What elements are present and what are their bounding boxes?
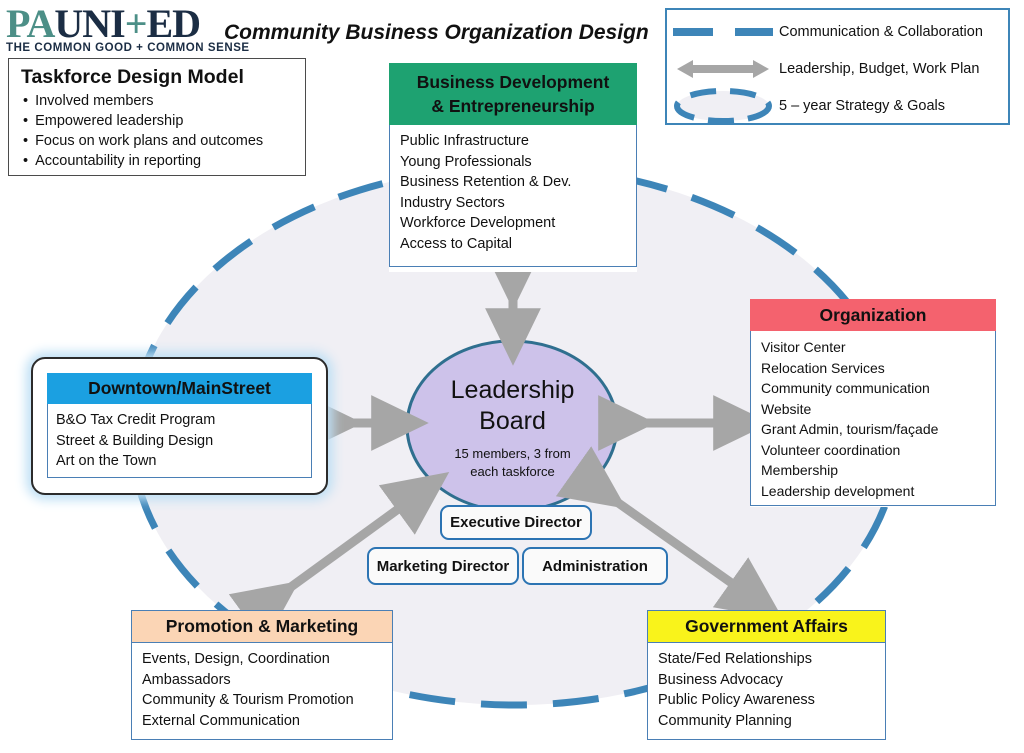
legend-item-strategy: 5 – year Strategy & Goals	[667, 86, 1008, 125]
card-business-development: Business Development & Entrepreneurship …	[389, 63, 637, 272]
box-administration: Administration	[522, 547, 668, 585]
list-item: Business Retention & Dev.	[400, 172, 636, 193]
list-item: Visitor Center	[761, 337, 995, 358]
logo-plus-icon: +	[125, 1, 147, 46]
taskforce-design-model-list: Involved members Empowered leadership Fo…	[19, 91, 305, 171]
list-item: Community communication	[761, 378, 995, 399]
card-government-affairs: Government Affairs State/Fed Relationshi…	[647, 610, 886, 743]
list-item: Focus on work plans and outcomes	[23, 131, 305, 151]
legend-label-strategy: 5 – year Strategy & Goals	[779, 98, 945, 114]
dashed-ellipse-swatch	[667, 87, 779, 125]
legend-item-communication: Communication & Collaboration	[667, 12, 1008, 51]
list-item: Young Professionals	[400, 152, 636, 173]
page-title: Community Business Organization Design	[224, 21, 649, 45]
list-item: External Communication	[142, 711, 392, 732]
list-item: Leadership development	[761, 481, 995, 502]
legend: Communication & Collaboration Leadership…	[665, 8, 1010, 125]
list-item: Ambassadors	[142, 670, 392, 691]
pa-united-logo: PAUNI+ED THE COMMON GOOD + COMMON SENSE	[6, 4, 250, 54]
diagram-canvas: PAUNI+ED THE COMMON GOOD + COMMON SENSE …	[0, 0, 1024, 753]
card-body-promotion-marketing: Events, Design, Coordination Ambassadors…	[131, 643, 393, 740]
dashed-line-swatch	[667, 25, 779, 39]
list-item: Empowered leadership	[23, 111, 305, 131]
card-header-downtown-mainstreet: Downtown/MainStreet	[47, 373, 312, 404]
logo-pa-text: PA	[6, 1, 54, 46]
logo-tagline: THE COMMON GOOD + COMMON SENSE	[6, 42, 250, 54]
card-body-downtown-mainstreet: B&O Tax Credit Program Street & Building…	[47, 404, 312, 478]
box-marketing-director: Marketing Director	[367, 547, 519, 585]
logo-ed-text: ED	[147, 1, 201, 46]
list-item: Workforce Development	[400, 213, 636, 234]
list-item: Industry Sectors	[400, 193, 636, 214]
list-item: Access to Capital	[400, 234, 636, 255]
list-item: Street & Building Design	[56, 431, 311, 452]
card-header-organization: Organization	[750, 299, 996, 331]
list-item: Art on the Town	[56, 451, 311, 472]
list-item: Membership	[761, 460, 995, 481]
card-header-promotion-marketing: Promotion & Marketing	[131, 610, 393, 643]
taskforce-design-model-title: Taskforce Design Model	[21, 66, 305, 89]
list-item: Grant Admin, tourism/façade	[761, 419, 995, 440]
logo-wordmark: PAUNI+ED	[6, 4, 250, 44]
logo-uni-text: UNI	[54, 1, 124, 46]
card-downtown-mainstreet: Downtown/MainStreet B&O Tax Credit Progr…	[47, 373, 312, 478]
card-promotion-marketing: Promotion & Marketing Events, Design, Co…	[131, 610, 393, 743]
list-item: Community & Tourism Promotion	[142, 690, 392, 711]
leadership-board-ellipse	[407, 341, 617, 511]
card-body-organization: Visitor Center Relocation Services Commu…	[750, 331, 996, 506]
list-item: B&O Tax Credit Program	[56, 410, 311, 431]
card-header-line1: Business Development	[390, 70, 636, 94]
list-item: Public Policy Awareness	[658, 690, 885, 711]
card-header-government-affairs: Government Affairs	[647, 610, 886, 643]
list-item: Website	[761, 399, 995, 420]
list-item: Accountability in reporting	[23, 151, 305, 171]
legend-item-leadership: Leadership, Budget, Work Plan	[667, 49, 1008, 88]
box-executive-director: Executive Director	[440, 505, 592, 540]
card-body-business-development: Public Infrastructure Young Professional…	[389, 125, 637, 267]
list-item: Public Infrastructure	[400, 131, 636, 152]
card-header-line2: & Entrepreneurship	[390, 94, 636, 118]
list-item: Business Advocacy	[658, 670, 885, 691]
card-header-business-development: Business Development & Entrepreneurship	[389, 63, 637, 125]
legend-label-communication: Communication & Collaboration	[779, 24, 983, 40]
list-item: Relocation Services	[761, 358, 995, 379]
list-item: Volunteer coordination	[761, 440, 995, 461]
taskforce-design-model-box: Taskforce Design Model Involved members …	[8, 58, 306, 176]
list-item: Events, Design, Coordination	[142, 649, 392, 670]
list-item: State/Fed Relationships	[658, 649, 885, 670]
legend-label-leadership: Leadership, Budget, Work Plan	[779, 61, 979, 77]
card-body-government-affairs: State/Fed Relationships Business Advocac…	[647, 643, 886, 740]
list-item: Community Planning	[658, 711, 885, 732]
card-organization: Organization Visitor Center Relocation S…	[750, 299, 996, 507]
list-item: Involved members	[23, 91, 305, 111]
double-arrow-swatch	[667, 57, 779, 81]
